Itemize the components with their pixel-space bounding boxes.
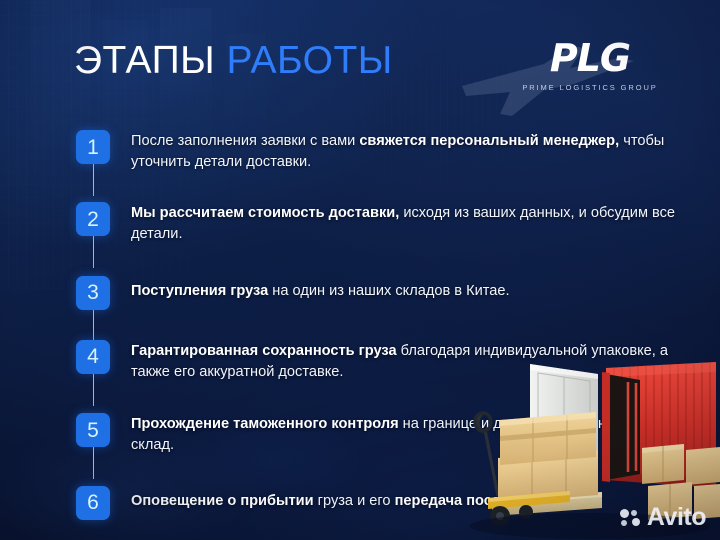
avito-logo-icon xyxy=(620,509,642,527)
step-badge-3: 3 xyxy=(76,276,110,310)
step-badge-5: 5 xyxy=(76,413,110,447)
step-text-bold: Оповещение о прибытии xyxy=(131,493,314,509)
step-connector xyxy=(93,236,95,268)
title-word-accent: РАБОТЫ xyxy=(227,39,393,82)
step-number: 6 xyxy=(87,492,99,513)
step-text-2: Мы рассчитаем стоимость доставки, исходя… xyxy=(131,202,686,244)
step-text-4: Гарантированная сохранность груза благод… xyxy=(131,340,686,382)
step-connector xyxy=(93,164,95,196)
avito-watermark: Avito xyxy=(620,505,706,530)
step-badge-6: 6 xyxy=(76,486,110,520)
step-text-before: После заполнения заявки с вами xyxy=(131,133,359,149)
avito-wordmark: Avito xyxy=(647,505,706,530)
step-text-5: Прохождение таможенного контроля на гран… xyxy=(131,413,686,455)
step-text-1: После заполнения заявки с вами свяжется … xyxy=(131,130,686,172)
poster-root: ЭТАПЫ РАБОТЫ PLG PRIME LOGISTICS GROUP 1… xyxy=(0,0,720,540)
step-text-bold: Поступления груза xyxy=(131,283,268,299)
list-item: 4 Гарантированная сохранность груза благ… xyxy=(76,340,686,382)
step-badge-4: 4 xyxy=(76,340,110,374)
steps-list: 1 После заполнения заявки с вами свяжетс… xyxy=(76,130,686,520)
step-text-3: Поступления груза на один из наших склад… xyxy=(131,276,510,302)
list-item: 6 Оповещение о прибытии груза и его пере… xyxy=(76,486,686,520)
title-word-primary: ЭТАПЫ xyxy=(74,39,215,82)
step-connector xyxy=(93,374,95,406)
list-item: 5 Прохождение таможенного контроля на гр… xyxy=(76,413,686,455)
step-text-after: груза и его xyxy=(314,493,395,509)
step-number: 2 xyxy=(87,209,99,230)
page-title: ЭТАПЫ РАБОТЫ xyxy=(74,41,393,80)
step-text-bold-2: передача после оплаты. xyxy=(395,493,572,509)
step-badge-1: 1 xyxy=(76,130,110,164)
step-number: 3 xyxy=(87,282,99,303)
step-number: 1 xyxy=(87,137,99,158)
step-number: 5 xyxy=(87,420,99,441)
step-connector xyxy=(93,447,95,479)
step-number: 4 xyxy=(87,346,99,367)
list-item: 1 После заполнения заявки с вами свяжетс… xyxy=(76,130,686,172)
step-text-6: Оповещение о прибытии груза и его переда… xyxy=(131,486,572,512)
brand-logo: PLG PRIME LOGISTICS GROUP xyxy=(520,40,660,92)
step-badge-2: 2 xyxy=(76,202,110,236)
step-text-after: на один из наших складов в Китае. xyxy=(268,283,509,299)
step-text-bold: Прохождение таможенного контроля xyxy=(131,416,399,432)
step-connector xyxy=(93,310,95,342)
list-item: 3 Поступления груза на один из наших скл… xyxy=(76,276,686,310)
step-text-bold: Гарантированная сохранность груза xyxy=(131,343,397,359)
step-text-bold: свяжется персональный менеджер, xyxy=(359,133,619,149)
logo-wordmark: PLG xyxy=(520,40,660,76)
step-text-bold: Мы рассчитаем стоимость доставки, xyxy=(131,205,399,221)
list-item: 2 Мы рассчитаем стоимость доставки, исхо… xyxy=(76,202,686,244)
logo-tagline: PRIME LOGISTICS GROUP xyxy=(520,83,660,92)
